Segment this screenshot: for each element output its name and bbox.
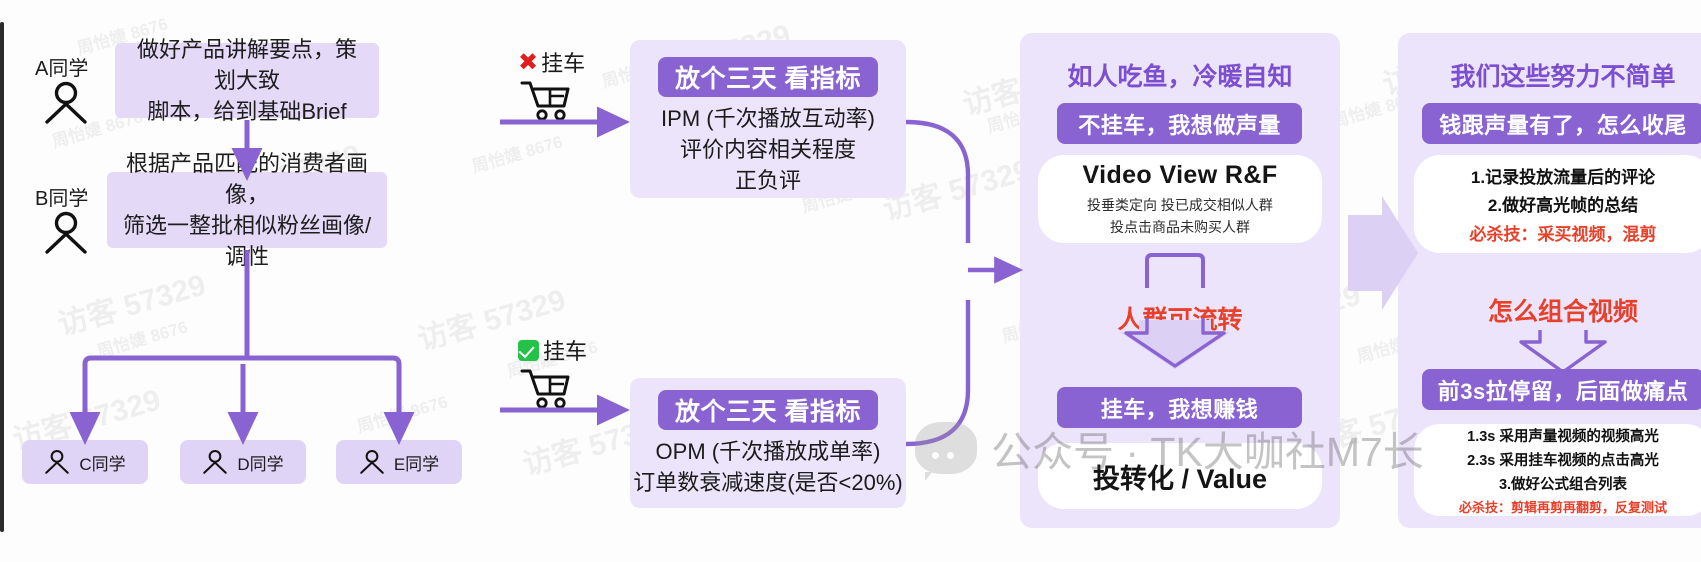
task-box-a: 做好产品讲解要点，策划大致 脚本，给到基础Brief [115, 43, 379, 118]
opm-line-2: 订单数衰减速度(是否<20%) [622, 467, 914, 498]
student-label-d: D同学 [237, 450, 283, 475]
cross-icon: ✖ [518, 48, 538, 77]
watermark-author: 周怡婕 8676 [468, 128, 565, 178]
person-a-label: A同学 [35, 52, 88, 81]
person-icon [359, 449, 385, 475]
right-card-bottom-line2: 2.3s 采用挂车视频的点击高光 [1467, 449, 1659, 470]
watermark-author: 周怡婕 8676 [93, 313, 190, 363]
right-card-top: 1.记录投放流量后的评论 2.做好高光帧的总结 必杀技：采买视频，混剪 [1414, 155, 1701, 253]
left-edge-bar [0, 22, 4, 532]
student-box-e: E同学 [336, 440, 462, 484]
person-icon [43, 210, 89, 256]
ipm-line-3: 正负评 [630, 165, 906, 196]
right-card-top-line2: 2.做好高光帧的总结 [1488, 191, 1638, 216]
task-box-b-line2: 筛选一整批相似粉丝画像/调性 [119, 210, 375, 272]
right-card-bottom-line4: 必杀技：剪辑再剪再翻剪，反复测试 [1459, 497, 1667, 516]
ipm-line-2: 评价内容相关程度 [630, 134, 906, 165]
flowchart-canvas: 访客 57329 访客 57329 访客 57329 访客 57329 访客 5… [0, 0, 1701, 562]
task-box-a-line2: 脚本，给到基础Brief [147, 96, 346, 127]
video-view-sub1: 投垂类定向 投已成交相似人群 [1087, 195, 1273, 215]
task-box-a-line1: 做好产品讲解要点，策划大致 [127, 34, 367, 96]
right-card-top-line1: 1.记录投放流量后的评论 [1471, 163, 1655, 188]
task-box-b-line1: 根据产品匹配的消费者画像， [119, 148, 375, 210]
branch-bar [85, 358, 399, 369]
person-icon [44, 449, 70, 475]
shopping-cart-icon [520, 78, 572, 122]
watermark-author: 周怡婕 8676 [353, 388, 450, 438]
ipm-header-pill: 放个三天 看指标 [658, 57, 878, 97]
ipm-body: IPM (千次播放互动率) 评价内容相关程度 正负评 [630, 103, 906, 197]
middle-panel-title: 如人吃鱼，冷暖自知 [1020, 57, 1340, 93]
opm-body: OPM (千次播放成单率) 订单数衰减速度(是否<20%) [622, 436, 914, 498]
check-icon [518, 340, 539, 361]
middle-pill-bottom: 挂车，我想赚钱 [1057, 387, 1302, 428]
branch-label-text: 挂车 [543, 334, 587, 366]
branch-label-text: 挂车 [541, 46, 585, 78]
opm-line-1: OPM (千次播放成单率) [622, 436, 914, 467]
right-card-bottom-line3: 3.做好公式组合列表 [1499, 473, 1627, 494]
person-icon [202, 449, 228, 475]
opm-header-pill: 放个三天 看指标 [658, 390, 878, 430]
right-mid-heading: 怎么组合视频 [1398, 292, 1701, 328]
right-card-bottom-line1: 1.3s 采用声量视频的视频高光 [1467, 425, 1659, 446]
connector-opm-merge [906, 300, 968, 444]
wechat-icon [915, 422, 977, 474]
right-panel-title: 我们这些努力不简单 [1398, 57, 1701, 93]
flow-label-middle: 人群可流转 [1020, 300, 1340, 336]
right-pill-bottom: 前3s拉停留，后面做痛点 [1422, 369, 1701, 410]
branch-label-no-cart: ✖ 挂车 [518, 46, 585, 78]
video-view-heading: Video View R&F [1082, 161, 1277, 190]
ipm-line-1: IPM (千次播放互动率) [630, 103, 906, 134]
task-box-b: 根据产品匹配的消费者画像， 筛选一整批相似粉丝画像/调性 [107, 172, 387, 248]
person-b-label: B同学 [35, 182, 88, 211]
right-card-top-line3: 必杀技：采买视频，混剪 [1470, 220, 1657, 245]
branch-label-with-cart: 挂车 [518, 334, 587, 366]
video-view-card: Video View R&F 投垂类定向 投已成交相似人群 投点击商品未购买人群 [1038, 155, 1322, 243]
connector-ipm-merge [906, 122, 968, 243]
student-label-e: E同学 [394, 450, 439, 475]
student-label-c: C同学 [79, 450, 125, 475]
video-view-sub2: 投点击商品未购买人群 [1110, 217, 1250, 237]
value-heading: 投转化 / Value [1093, 457, 1267, 496]
value-card: 投转化 / Value [1038, 443, 1322, 509]
watermark-visitor: 访客 57329 [52, 260, 210, 344]
right-card-bottom: 1.3s 采用声量视频的视频高光 2.3s 采用挂车视频的点击高光 3.做好公式… [1414, 424, 1701, 516]
shopping-cart-icon [520, 366, 572, 410]
student-box-d: D同学 [180, 440, 306, 484]
right-pill-top: 钱跟声量有了，怎么收尾 [1422, 103, 1701, 144]
middle-pill-top: 不挂车，我想做声量 [1057, 103, 1302, 144]
student-box-c: C同学 [22, 440, 148, 484]
person-icon [43, 80, 89, 126]
